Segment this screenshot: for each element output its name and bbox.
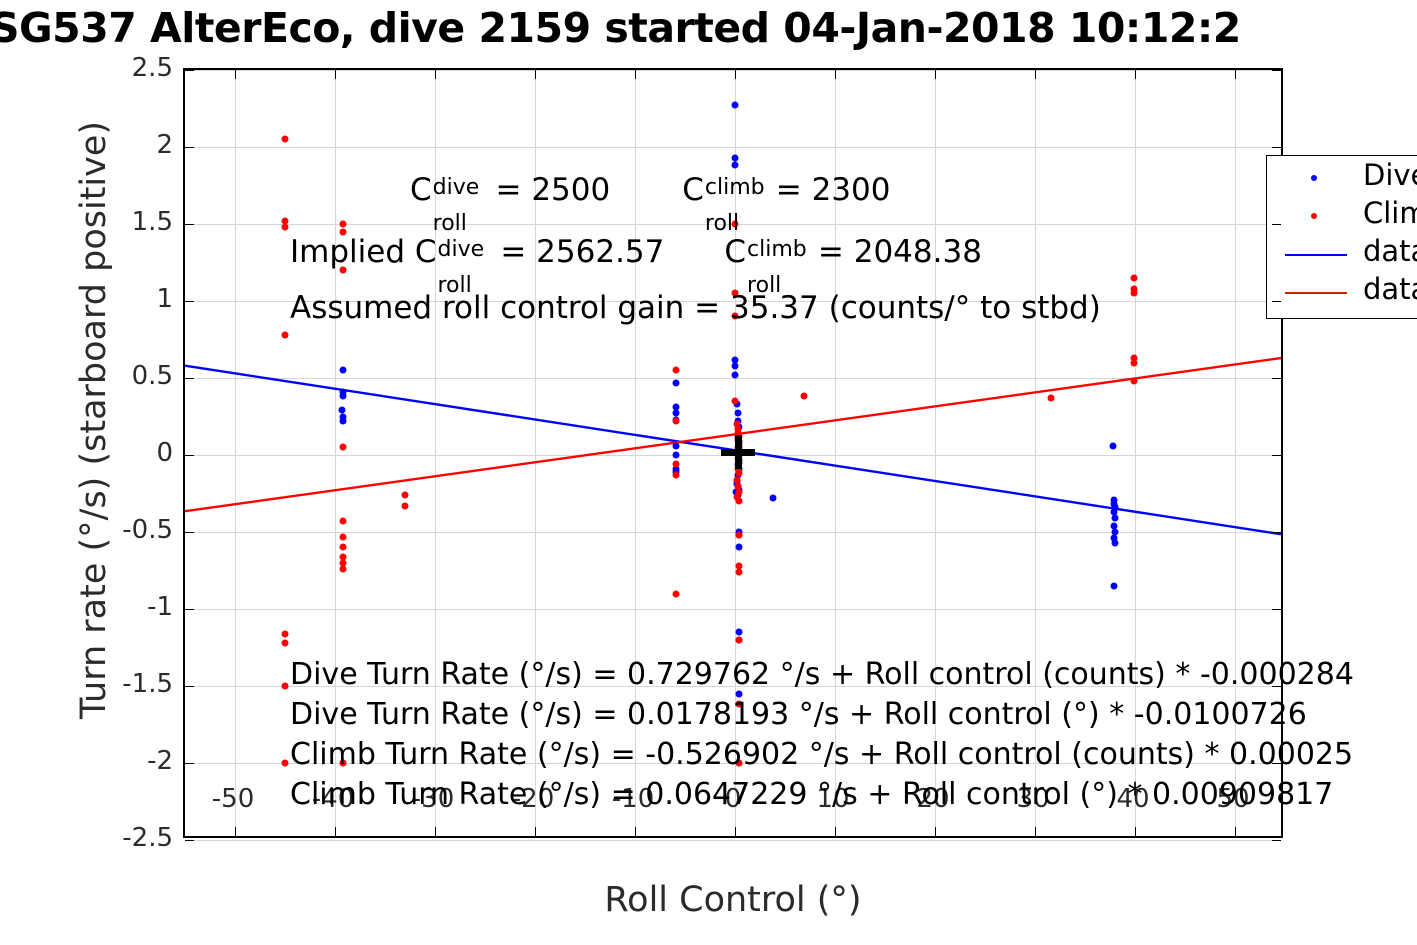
y-tick-mark	[1272, 378, 1281, 379]
implied-prefix: Implied C	[290, 234, 437, 270]
legend-marker-climb-icon	[1311, 213, 1317, 219]
x-tick-mark	[835, 70, 836, 79]
data-point-climb	[402, 502, 409, 509]
y-tick-label: 0.5	[132, 361, 173, 391]
equation-climb-counts: Climb Turn Rate (°/s) = -0.526902 °/s + …	[290, 737, 1353, 772]
x-tick-mark	[935, 827, 936, 836]
x-tick-mark	[735, 827, 736, 836]
y-tick-mark	[1272, 840, 1281, 841]
legend-label-data1: data1	[1363, 234, 1417, 268]
x-tick-mark	[435, 70, 436, 79]
legend-label-climb: Climb	[1363, 196, 1417, 230]
y-tick-label: 2.5	[132, 53, 173, 83]
data-point-dive	[732, 154, 739, 161]
y-tick-label: 0	[156, 438, 173, 468]
gridline-horizontal	[185, 840, 1281, 841]
x-tick-mark	[1135, 70, 1136, 79]
data-point-climb	[736, 498, 743, 505]
y-tick-label: 1	[156, 284, 173, 314]
y-tick-label: -1.5	[122, 669, 173, 699]
legend: Dive Climb data1 data2	[1266, 155, 1417, 319]
x-tick-mark	[1235, 827, 1236, 836]
x-tick-mark	[235, 70, 236, 79]
y-tick-mark	[185, 763, 194, 764]
x-tick-mark	[235, 827, 236, 836]
data-point-climb	[340, 565, 347, 572]
implied-climb-value: = 2048.38	[808, 234, 982, 270]
x-tick-mark	[535, 70, 536, 79]
y-tick-label: -1	[147, 592, 173, 622]
data-point-dive	[736, 629, 743, 636]
y-tick-label: 2	[156, 130, 173, 160]
data-point-climb	[282, 136, 289, 143]
equation-climb-degrees: Climb Turn Rate (°/s) = 0.0647229 °/s + …	[290, 777, 1333, 812]
annotation-gain-line: Assumed roll control gain = 35.37 (count…	[290, 290, 1101, 326]
data-point-climb	[340, 544, 347, 551]
x-tick-mark	[635, 827, 636, 836]
data-point-climb	[736, 532, 743, 539]
y-tick-mark	[185, 840, 194, 841]
x-tick-mark	[935, 70, 936, 79]
y-tick-mark	[1272, 147, 1281, 148]
y-tick-label: -0.5	[122, 515, 173, 545]
implied-climb-superscript: climb	[747, 237, 807, 262]
c-dive-value: = 2500	[486, 172, 611, 208]
y-tick-mark	[185, 686, 194, 687]
data-point-climb	[282, 224, 289, 231]
data-point-climb	[282, 683, 289, 690]
data-point-dive	[673, 442, 680, 449]
data-point-climb	[1131, 359, 1138, 366]
legend-label-dive: Dive	[1363, 158, 1417, 192]
x-tick-mark	[835, 827, 836, 836]
y-tick-label: 1.5	[132, 207, 173, 237]
data-point-climb	[673, 418, 680, 425]
data-point-climb	[736, 636, 743, 643]
data-point-climb	[801, 393, 808, 400]
data-point-climb	[1131, 274, 1138, 281]
data-point-dive	[1110, 442, 1117, 449]
data-point-dive	[732, 362, 739, 369]
y-tick-mark	[185, 147, 194, 148]
legend-item-dive[interactable]: Dive	[1267, 162, 1417, 196]
data-point-dive	[732, 371, 739, 378]
x-tick-mark	[1035, 70, 1036, 79]
data-point-climb	[340, 518, 347, 525]
data-point-dive	[340, 367, 347, 374]
data-point-climb	[673, 461, 680, 468]
data-point-climb	[1048, 395, 1055, 402]
y-tick-label: -2.5	[122, 823, 173, 853]
data-point-climb	[340, 444, 347, 451]
legend-item-data1[interactable]: data1	[1267, 238, 1417, 272]
data-point-climb	[673, 367, 680, 374]
y-tick-mark	[185, 532, 194, 533]
c-climb-symbol: C	[682, 172, 704, 208]
y-tick-mark	[185, 455, 194, 456]
x-tick-mark	[1235, 70, 1236, 79]
legend-marker-dive-icon	[1311, 175, 1317, 181]
legend-line-data2-icon	[1285, 292, 1347, 294]
data-point-dive	[340, 393, 347, 400]
implied-climb-symbol: C	[724, 234, 746, 270]
y-axis-label: Turn rate (°/s) (starboard positive)	[74, 40, 114, 800]
data-point-climb	[282, 760, 289, 767]
figure-root: SG537 AlterEco, dive 2159 started 04-Jan…	[0, 0, 1417, 945]
y-tick-mark	[185, 609, 194, 610]
data-point-dive	[673, 452, 680, 459]
x-tick-mark	[535, 827, 536, 836]
data-point-climb	[1131, 378, 1138, 385]
y-tick-mark	[1272, 532, 1281, 533]
y-tick-label: -2	[147, 746, 173, 776]
y-tick-mark	[1272, 70, 1281, 71]
data-point-dive	[735, 410, 742, 417]
c-climb-superscript: climb	[705, 175, 765, 200]
legend-item-climb[interactable]: Climb	[1267, 200, 1417, 234]
x-tick-mark	[1135, 827, 1136, 836]
y-tick-mark	[185, 70, 194, 71]
data-point-dive	[340, 418, 347, 425]
x-tick-mark	[635, 70, 636, 79]
c-climb-value: = 2300	[766, 172, 891, 208]
y-tick-mark	[185, 224, 194, 225]
y-tick-mark	[185, 378, 194, 379]
annotation-implied-line: Implied Cdiveroll = 2562.57Cclimbroll = …	[290, 234, 982, 270]
x-tick-label: -50	[212, 784, 254, 814]
data-point-dive	[732, 162, 739, 169]
y-tick-mark	[1272, 224, 1281, 225]
y-tick-mark	[1272, 301, 1281, 302]
x-tick-mark	[335, 70, 336, 79]
data-point-climb	[673, 590, 680, 597]
data-point-climb	[282, 331, 289, 338]
data-point-climb	[736, 569, 743, 576]
c-dive-superscript: dive	[433, 175, 480, 200]
equation-dive-degrees: Dive Turn Rate (°/s) = 0.0178193 °/s + R…	[290, 697, 1307, 732]
x-tick-mark	[735, 70, 736, 79]
data-point-dive	[736, 544, 743, 551]
data-point-dive	[770, 495, 777, 502]
data-point-dive	[1111, 582, 1118, 589]
data-point-dive	[1112, 539, 1119, 546]
data-point-dive	[673, 379, 680, 386]
legend-line-data1-icon	[1285, 254, 1347, 256]
y-tick-mark	[1272, 609, 1281, 610]
x-axis-label: Roll Control (°)	[183, 880, 1283, 920]
legend-item-data2[interactable]: data2	[1267, 276, 1417, 310]
y-tick-mark	[1272, 455, 1281, 456]
data-point-dive	[732, 102, 739, 109]
data-point-climb	[282, 630, 289, 637]
equation-dive-counts: Dive Turn Rate (°/s) = 0.729762 °/s + Ro…	[290, 657, 1354, 692]
implied-dive-superscript: dive	[438, 237, 485, 262]
data-point-climb	[340, 533, 347, 540]
c-dive-subscript: roll	[433, 211, 467, 236]
data-point-climb	[1131, 290, 1138, 297]
figure-title: SG537 AlterEco, dive 2159 started 04-Jan…	[0, 4, 1417, 52]
c-dive-symbol: C	[410, 172, 432, 208]
y-tick-mark	[185, 301, 194, 302]
x-tick-mark	[435, 827, 436, 836]
data-point-climb	[340, 221, 347, 228]
data-point-climb	[402, 492, 409, 499]
mean-cross-marker	[721, 435, 755, 469]
x-tick-mark	[1035, 827, 1036, 836]
data-point-climb	[732, 398, 739, 405]
annotation-coeff-line: Cdiveroll = 2500Cclimbroll = 2300	[410, 172, 890, 208]
data-point-climb	[282, 639, 289, 646]
data-point-climb	[673, 472, 680, 479]
c-climb-subscript: roll	[705, 211, 739, 236]
implied-dive-value: = 2562.57	[491, 234, 665, 270]
x-tick-mark	[335, 827, 336, 836]
data-point-dive	[1112, 515, 1119, 522]
legend-label-data2: data2	[1363, 272, 1417, 306]
